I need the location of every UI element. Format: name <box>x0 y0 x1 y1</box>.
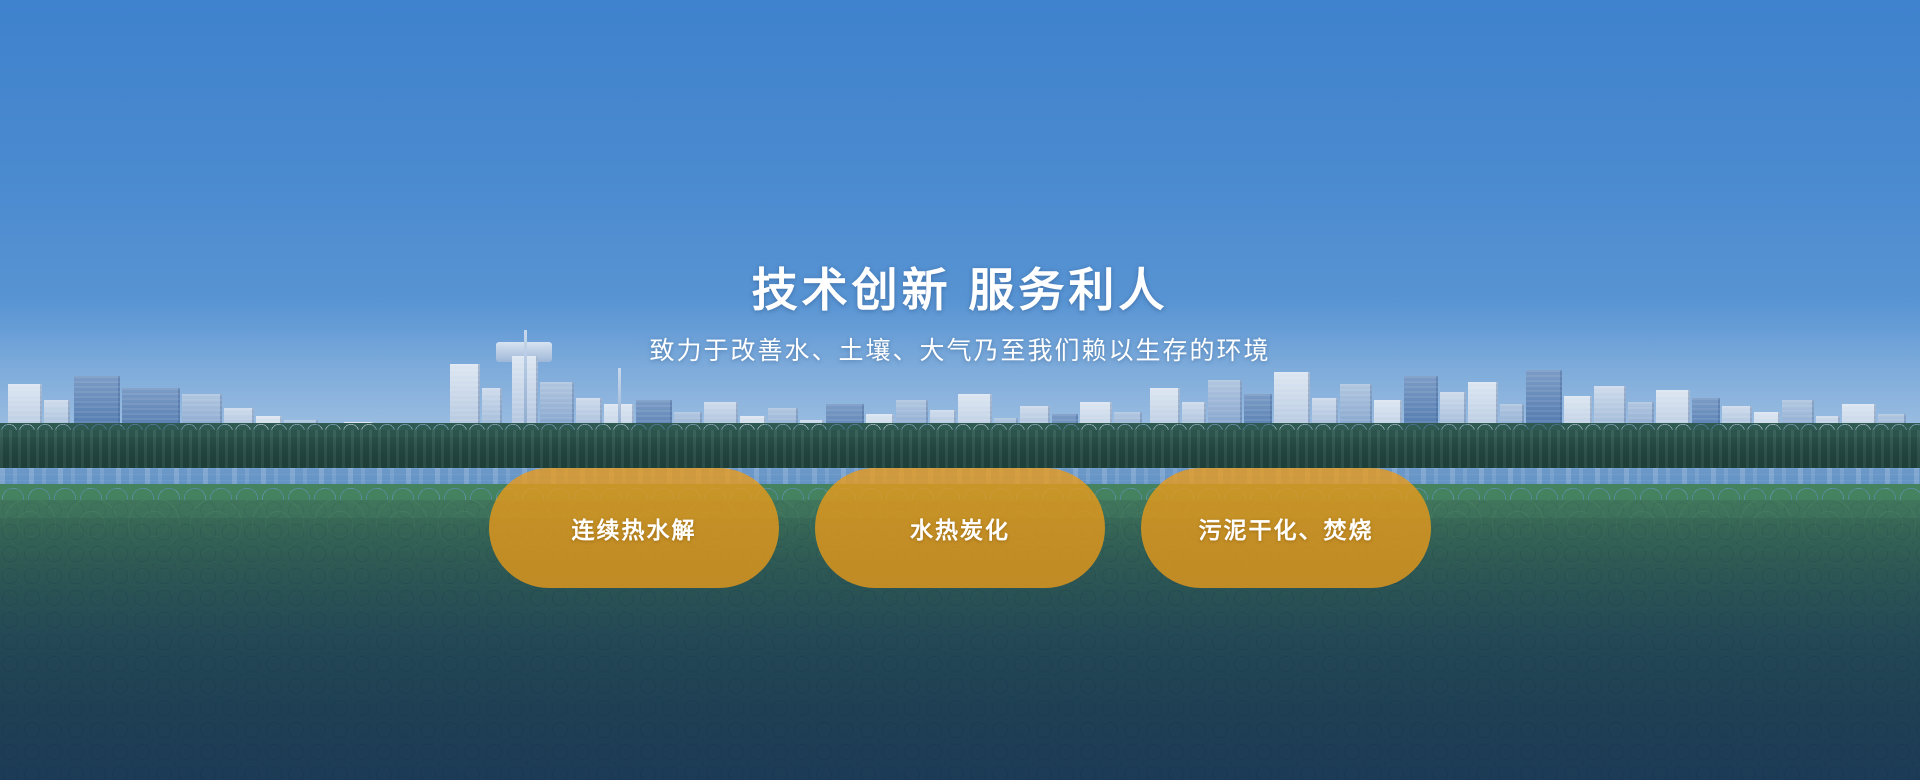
hero-banner: 技术创新 服务利人 致力于改善水、土壤、大气乃至我们赖以生存的环境 连续热水解 … <box>0 0 1920 780</box>
cta-button-continuous-thermal-hydrolysis[interactable]: 连续热水解 <box>489 468 779 588</box>
cta-button-label: 连续热水解 <box>572 511 697 545</box>
cta-button-row: 连续热水解 水热炭化 污泥干化、焚烧 <box>0 468 1920 588</box>
hero-subtitle: 致力于改善水、土壤、大气乃至我们赖以生存的环境 <box>0 334 1920 369</box>
cta-button-hydrothermal-carbonization[interactable]: 水热炭化 <box>815 468 1105 588</box>
cta-button-label: 污泥干化、焚烧 <box>1199 511 1374 545</box>
cta-button-label: 水热炭化 <box>910 511 1010 545</box>
cta-button-sludge-drying-incineration[interactable]: 污泥干化、焚烧 <box>1141 468 1431 588</box>
hero-title: 技术创新 服务利人 <box>0 262 1920 320</box>
distant-treeline <box>0 430 1920 470</box>
hero-text-block: 技术创新 服务利人 致力于改善水、土壤、大气乃至我们赖以生存的环境 <box>0 262 1920 369</box>
